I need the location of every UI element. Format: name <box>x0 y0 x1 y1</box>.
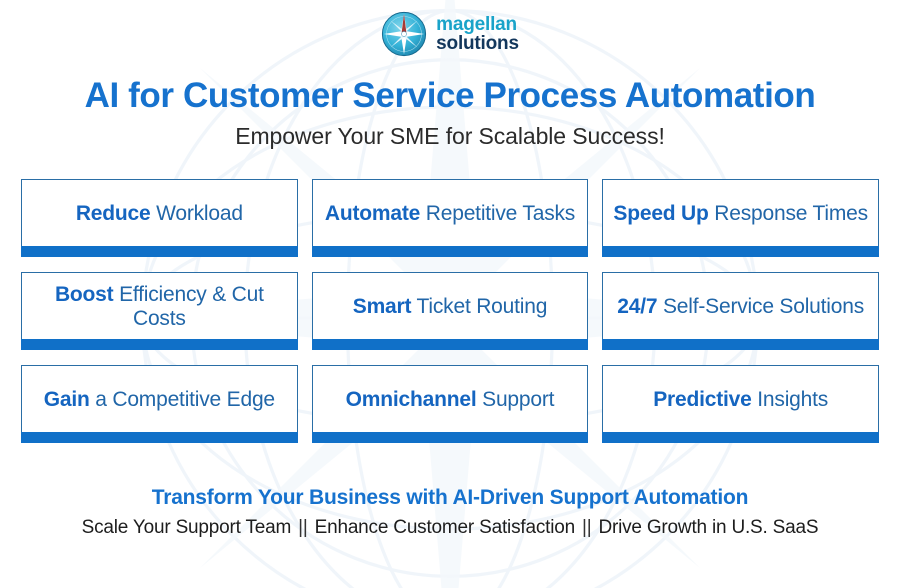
benefit-card[interactable]: Smart Ticket Routing <box>312 272 589 339</box>
footer-item-2: Enhance Customer Satisfaction <box>315 517 575 538</box>
benefit-card-lead: 24/7 <box>617 295 657 318</box>
benefit-card-lead: Automate <box>325 202 420 225</box>
benefit-card-text: Omnichannel Support <box>346 388 555 412</box>
page-subtitle: Empower Your SME for Scalable Success! <box>0 123 900 150</box>
benefit-card[interactable]: Predictive Insights <box>602 365 879 432</box>
benefit-card-text: Boost Efficiency & Cut Costs <box>30 283 289 330</box>
brand-name-line1: magellan <box>436 15 519 34</box>
benefit-card-text: Gain a Competitive Edge <box>44 388 275 412</box>
benefit-card-lead: Boost <box>55 283 114 306</box>
benefit-card[interactable]: 24/7 Self-Service Solutions <box>602 272 879 339</box>
benefit-card-text: 24/7 Self-Service Solutions <box>617 295 864 319</box>
benefit-card-lead: Reduce <box>76 202 151 225</box>
infographic-page: magellan solutions AI for Customer Servi… <box>0 0 900 588</box>
benefit-card-rest: Self-Service Solutions <box>657 295 864 318</box>
benefit-card-rest: Efficiency & Cut Costs <box>113 283 263 330</box>
benefit-card-rest: Insights <box>752 388 828 411</box>
footer-separator: || <box>291 517 314 538</box>
compass-rose-icon <box>381 11 427 57</box>
benefit-card[interactable]: Speed Up Response Times <box>602 179 879 246</box>
benefit-card-lead: Omnichannel <box>346 388 477 411</box>
benefit-card[interactable]: Reduce Workload <box>21 179 298 246</box>
benefit-card-rest: a Competitive Edge <box>90 388 275 411</box>
footer-item-1: Scale Your Support Team <box>82 517 291 538</box>
benefit-card-text: Predictive Insights <box>653 388 828 412</box>
benefit-card-text: Reduce Workload <box>76 202 243 226</box>
footer: Transform Your Business with AI-Driven S… <box>0 486 900 539</box>
brand-name-line2: solutions <box>436 34 519 53</box>
benefit-card-rest: Repetitive Tasks <box>420 202 575 225</box>
benefit-card-lead: Gain <box>44 388 90 411</box>
benefit-card-rest: Support <box>477 388 555 411</box>
benefit-card[interactable]: Omnichannel Support <box>312 365 589 432</box>
benefit-card-text: Speed Up Response Times <box>613 202 868 226</box>
footer-separator: || <box>575 517 598 538</box>
benefit-card-rest: Ticket Routing <box>411 295 547 318</box>
brand-logo: magellan solutions <box>0 0 900 62</box>
benefit-card-text: Smart Ticket Routing <box>353 295 547 319</box>
footer-headline: Transform Your Business with AI-Driven S… <box>0 486 900 510</box>
benefit-card-lead: Speed Up <box>613 202 708 225</box>
benefit-card-rest: Response Times <box>709 202 868 225</box>
benefit-card[interactable]: Gain a Competitive Edge <box>21 365 298 432</box>
footer-item-3: Drive Growth in U.S. SaaS <box>598 517 818 538</box>
benefit-card-lead: Predictive <box>653 388 751 411</box>
benefit-card-lead: Smart <box>353 295 412 318</box>
benefit-card-grid: Reduce Workload Automate Repetitive Task… <box>21 179 879 432</box>
benefit-card[interactable]: Boost Efficiency & Cut Costs <box>21 272 298 339</box>
benefit-card[interactable]: Automate Repetitive Tasks <box>312 179 589 246</box>
footer-benefit-list: Scale Your Support Team||Enhance Custome… <box>0 517 900 539</box>
benefit-card-text: Automate Repetitive Tasks <box>325 202 575 226</box>
benefit-card-rest: Workload <box>150 202 242 225</box>
page-title: AI for Customer Service Process Automati… <box>0 78 900 115</box>
